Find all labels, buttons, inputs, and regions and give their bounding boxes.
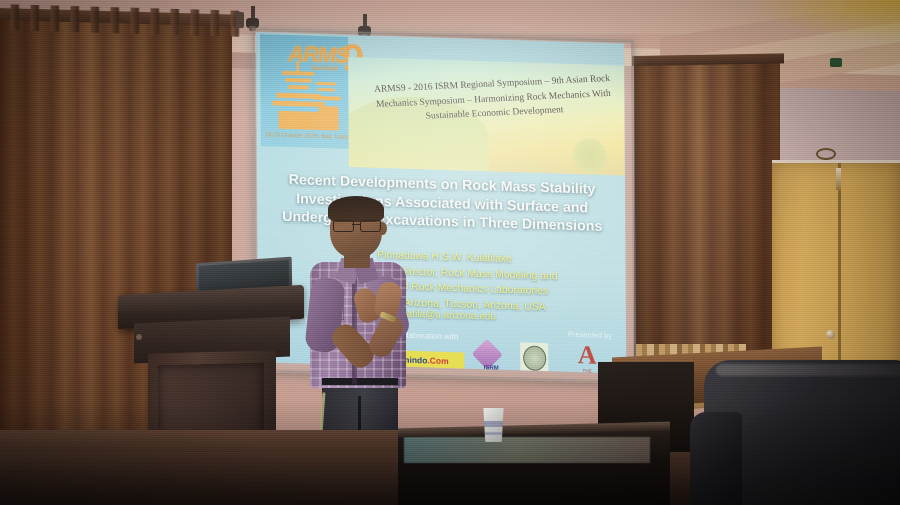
- door-center-seam: [838, 163, 841, 365]
- conference-room-photo: ARMS 9 Bali 2016 18-20 October 2016, Bal…: [0, 0, 900, 505]
- armchair-highlight: [716, 364, 900, 376]
- ceiling-warm-glow: [750, 0, 900, 40]
- armchair[interactable]: [690, 360, 900, 505]
- paper-cup-band-lower: [485, 432, 502, 435]
- eyeglasses-icon: [333, 220, 381, 230]
- curtain-right: [634, 57, 780, 360]
- door-knob[interactable]: [826, 330, 835, 339]
- armchair-armrest: [690, 412, 742, 505]
- lectern-knob: [136, 334, 142, 340]
- presenter-belt: [322, 378, 398, 385]
- coffee-table-glass-top: [404, 437, 650, 463]
- presenter-hair: [328, 196, 384, 222]
- door-latch[interactable]: [836, 168, 841, 190]
- green-indicator-light: [830, 58, 842, 67]
- wall-bracket: [236, 12, 244, 28]
- paper-cup-band: [484, 421, 503, 427]
- door[interactable]: [772, 160, 900, 368]
- door-ring-handle-icon[interactable]: [816, 148, 836, 160]
